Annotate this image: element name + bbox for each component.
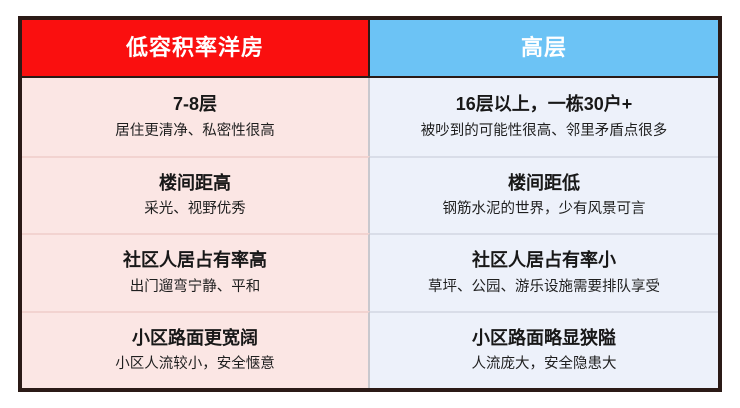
table-cell-left: 小区路面更宽阔 小区人流较小，安全惬意 <box>22 311 370 389</box>
cell-title: 楼间距低 <box>508 172 580 195</box>
column-header-low-plot-ratio: 低容积率洋房 <box>22 20 370 76</box>
table-cell-right: 楼间距低 钢筋水泥的世界，少有风景可言 <box>370 156 718 234</box>
table-cell-left: 7-8层 居住更清净、私密性很高 <box>22 78 370 156</box>
cell-title: 社区人居占有率高 <box>123 249 267 272</box>
table-cell-left: 社区人居占有率高 出门遛弯宁静、平和 <box>22 233 370 311</box>
table-row: 7-8层 居住更清净、私密性很高 16层以上，一栋30户+ 被吵到的可能性很高、… <box>22 78 718 156</box>
cell-title: 小区路面更宽阔 <box>132 327 258 350</box>
column-header-high-rise: 高层 <box>370 20 718 76</box>
table-cell-right: 社区人居占有率小 草坪、公园、游乐设施需要排队享受 <box>370 233 718 311</box>
table-row: 楼间距高 采光、视野优秀 楼间距低 钢筋水泥的世界，少有风景可言 <box>22 156 718 234</box>
cell-subtitle: 钢筋水泥的世界，少有风景可言 <box>443 200 646 219</box>
table-header-row: 低容积率洋房 高层 <box>22 20 718 78</box>
cell-title: 16层以上，一栋30户+ <box>456 93 633 116</box>
cell-subtitle: 草坪、公园、游乐设施需要排队享受 <box>428 278 660 297</box>
cell-subtitle: 采光、视野优秀 <box>144 200 246 219</box>
cell-subtitle: 人流庞大，安全隐患大 <box>472 355 617 374</box>
table-row: 社区人居占有率高 出门遛弯宁静、平和 社区人居占有率小 草坪、公园、游乐设施需要… <box>22 233 718 311</box>
cell-subtitle: 被吵到的可能性很高、邻里矛盾点很多 <box>421 122 668 141</box>
comparison-table: 低容积率洋房 高层 7-8层 居住更清净、私密性很高 16层以上，一栋30户+ … <box>18 16 722 392</box>
cell-title: 社区人居占有率小 <box>472 249 616 272</box>
table-row: 小区路面更宽阔 小区人流较小，安全惬意 小区路面略显狭隘 人流庞大，安全隐患大 <box>22 311 718 389</box>
table-cell-left: 楼间距高 采光、视野优秀 <box>22 156 370 234</box>
cell-subtitle: 出门遛弯宁静、平和 <box>130 278 261 297</box>
cell-title: 小区路面略显狭隘 <box>472 327 616 350</box>
cell-title: 楼间距高 <box>159 172 231 195</box>
table-body: 7-8层 居住更清净、私密性很高 16层以上，一栋30户+ 被吵到的可能性很高、… <box>22 78 718 388</box>
cell-subtitle: 小区人流较小，安全惬意 <box>115 355 275 374</box>
cell-title: 7-8层 <box>173 93 217 116</box>
column-header-label: 低容积率洋房 <box>126 37 264 59</box>
cell-subtitle: 居住更清净、私密性很高 <box>115 122 275 141</box>
table-cell-right: 小区路面略显狭隘 人流庞大，安全隐患大 <box>370 311 718 389</box>
column-header-label: 高层 <box>521 37 567 59</box>
table-cell-right: 16层以上，一栋30户+ 被吵到的可能性很高、邻里矛盾点很多 <box>370 78 718 156</box>
